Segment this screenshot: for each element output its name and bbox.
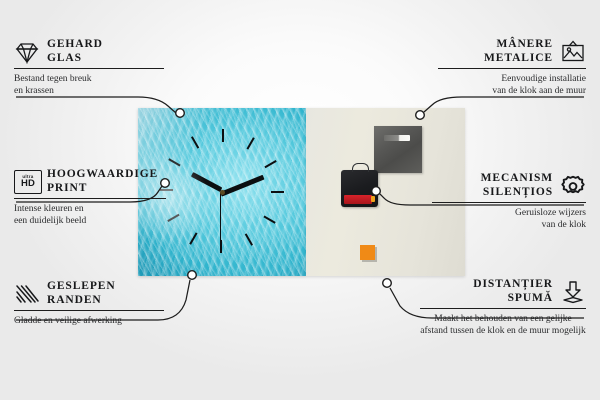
- callout-divider: [14, 310, 164, 311]
- leader-manere-metalice: [424, 97, 584, 112]
- node-distantier-spuma: [383, 279, 392, 288]
- callout-gehard-glas: GEHARDGLAS Bestand tegen breuken krassen: [14, 38, 164, 97]
- callout-title: DISTANȚIERSPUMĂ: [473, 278, 553, 305]
- callout-subtitle: Maakt het behouden van een gelijkeafstan…: [420, 313, 586, 337]
- diamond-icon: [14, 40, 40, 64]
- infographic-canvas: GEHARDGLAS Bestand tegen breuken krassen…: [0, 0, 600, 400]
- callout-title: GESLEPENRANDEN: [47, 280, 116, 307]
- picture-frame-icon: [560, 40, 586, 64]
- callout-subtitle: Geruisloze wijzersvan de klok: [432, 207, 586, 231]
- callout-title: MECANISMSILENȚIOS: [481, 172, 553, 199]
- callout-subtitle: Bestand tegen breuken krassen: [14, 73, 164, 97]
- node-geslepen-randen: [188, 271, 197, 280]
- callout-subtitle: Intense kleuren eneen duidelijk beeld: [14, 203, 166, 227]
- gear-icon: [560, 174, 586, 198]
- callout-hoogwaardige-print: ultra HD HOOGWAARDIGEPRINT Intense kleur…: [14, 168, 166, 227]
- callout-subtitle: Eenvoudige installatievan de klok aan de…: [438, 73, 586, 97]
- callout-header: GEHARDGLAS: [14, 38, 164, 65]
- spacer-arrow-icon: [560, 280, 586, 304]
- callout-header: DISTANȚIERSPUMĂ: [420, 278, 586, 305]
- callout-subtitle: Gladde en veilige afwerking: [14, 315, 164, 327]
- node-manere-metalice: [416, 111, 425, 120]
- callout-header: MÂNEREMETALICE: [438, 38, 586, 65]
- callout-header: MECANISMSILENȚIOS: [432, 172, 586, 199]
- callout-title: HOOGWAARDIGEPRINT: [47, 168, 158, 195]
- node-gehard-glas: [176, 109, 185, 118]
- leader-gehard-glas: [16, 97, 176, 113]
- callout-title: GEHARDGLAS: [47, 38, 103, 65]
- callout-divider: [420, 308, 586, 309]
- callout-divider: [14, 68, 164, 69]
- callout-mecanism-silentios: MECANISMSILENȚIOS Geruisloze wijzersvan …: [432, 172, 586, 231]
- ultra-hd-icon: ultra HD: [14, 170, 40, 194]
- callout-header: ultra HD HOOGWAARDIGEPRINT: [14, 168, 166, 195]
- bevelled-edges-icon: [14, 282, 40, 306]
- callout-divider: [14, 198, 166, 199]
- callout-header: GESLEPENRANDEN: [14, 280, 164, 307]
- callout-divider: [438, 68, 586, 69]
- callout-divider: [432, 202, 586, 203]
- callout-distantier-spuma: DISTANȚIERSPUMĂ Maakt het behouden van e…: [420, 278, 586, 337]
- hd-label: HD: [21, 179, 35, 189]
- callout-title: MÂNEREMETALICE: [484, 38, 553, 65]
- callout-manere-metalice: MÂNEREMETALICE Eenvoudige installatievan…: [438, 38, 586, 97]
- callout-geslepen-randen: GESLEPENRANDEN Gladde en veilige afwerki…: [14, 280, 164, 327]
- node-mecanism-silentios: [372, 187, 381, 196]
